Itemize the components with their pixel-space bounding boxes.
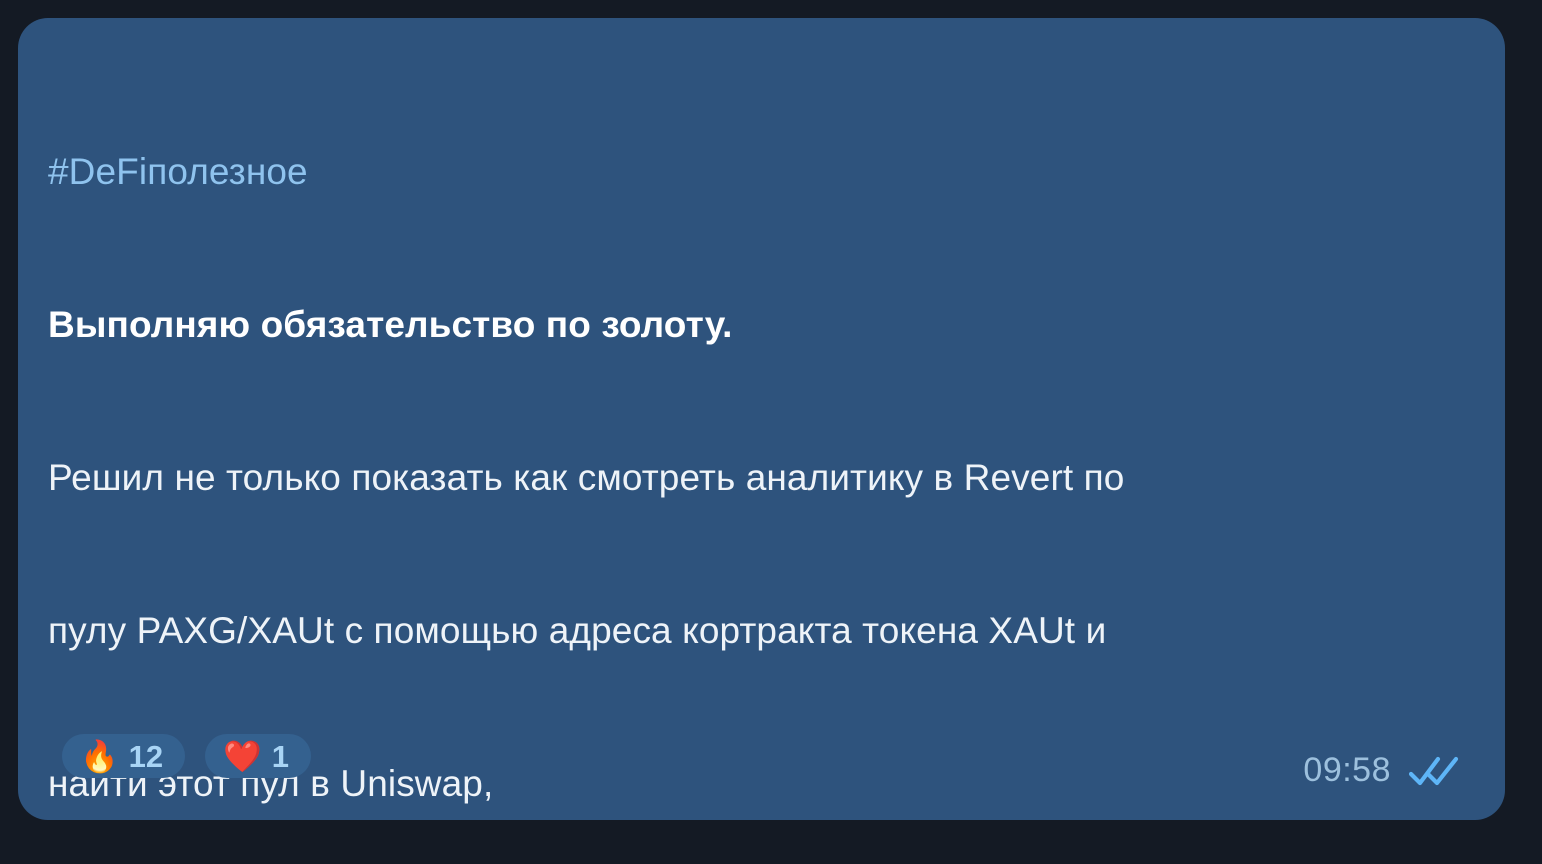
fire-emoji: 🔥 bbox=[80, 741, 119, 772]
reaction-fire-count: 12 bbox=[129, 741, 163, 772]
hashtag-link[interactable]: #DeFiполезное bbox=[48, 146, 1475, 197]
red-heart-emoji: ❤️ bbox=[223, 741, 262, 772]
reaction-heart-count: 1 bbox=[272, 741, 289, 772]
reaction-heart[interactable]: ❤️ 1 bbox=[205, 734, 311, 778]
message-meta: 09:58 bbox=[1303, 751, 1459, 790]
double-check-read-icon bbox=[1409, 754, 1459, 788]
message-timestamp: 09:58 bbox=[1303, 751, 1391, 790]
reactions-row: 🔥 12 ❤️ 1 bbox=[62, 734, 311, 778]
message-bubble[interactable]: #DeFiполезное Выполняю обязательство по … bbox=[18, 18, 1505, 820]
message-line-3: пулу PAXG/XAUt с помощью адреса кортракт… bbox=[48, 605, 1475, 656]
reaction-fire[interactable]: 🔥 12 bbox=[62, 734, 185, 778]
message-line-bold-heading: Выполняю обязательство по золоту. bbox=[48, 299, 1475, 350]
chat-screen: #DeFiполезное Выполняю обязательство по … bbox=[0, 0, 1542, 864]
message-line-2: Решил не только показать как смотреть ан… bbox=[48, 452, 1475, 503]
message-text-body: #DeFiполезное Выполняю обязательство по … bbox=[48, 44, 1475, 820]
